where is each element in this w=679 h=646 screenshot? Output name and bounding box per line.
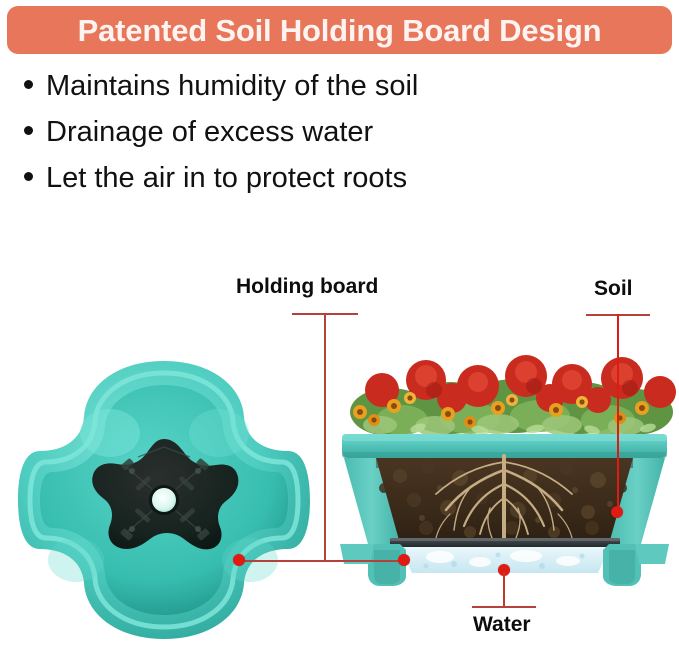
- page-title: Patented Soil Holding Board Design: [78, 15, 602, 46]
- planter-top-view-graphic: [14, 355, 314, 645]
- bullet-dot-icon: [24, 172, 33, 181]
- list-item: Drainage of excess water: [24, 118, 624, 164]
- feature-text: Drainage of excess water: [46, 118, 373, 147]
- list-item: Let the air in to protect roots: [24, 164, 624, 210]
- callout-label-soil: Soil: [594, 278, 633, 299]
- holding-board-plate: [390, 538, 620, 547]
- bullet-dot-icon: [24, 80, 33, 89]
- feature-text: Maintains humidity of the soil: [46, 72, 418, 101]
- feature-text: Let the air in to protect roots: [46, 164, 407, 193]
- list-item: Maintains humidity of the soil: [24, 72, 624, 118]
- product-illustration: Holding board Soil Water: [0, 250, 679, 646]
- leader-tbar-water: [472, 606, 536, 608]
- leader-line-water-vertical: [503, 572, 505, 606]
- leader-line-soil-vertical: [617, 314, 619, 512]
- infographic-page: Patented Soil Holding Board Design Maint…: [0, 0, 679, 646]
- callout-label-water: Water: [473, 614, 531, 635]
- flowers-foliage: [350, 355, 676, 436]
- soil-layer: [376, 456, 633, 544]
- bullet-dot-icon: [24, 126, 33, 135]
- header-banner: Patented Soil Holding Board Design: [7, 6, 672, 54]
- callout-label-holding-board: Holding board: [236, 276, 378, 297]
- feature-list: Maintains humidity of the soil Drainage …: [24, 72, 624, 210]
- drain-hole: [152, 488, 176, 512]
- leader-line-holding-board-horizontal: [239, 560, 407, 562]
- callout-dot-soil: [611, 506, 623, 518]
- leader-line-holding-board-vertical: [324, 313, 326, 560]
- quatrefoil-planter-top-view: [14, 355, 314, 645]
- callout-dot-holding-board-left: [233, 554, 245, 566]
- callout-dot-holding-board-right: [398, 554, 410, 566]
